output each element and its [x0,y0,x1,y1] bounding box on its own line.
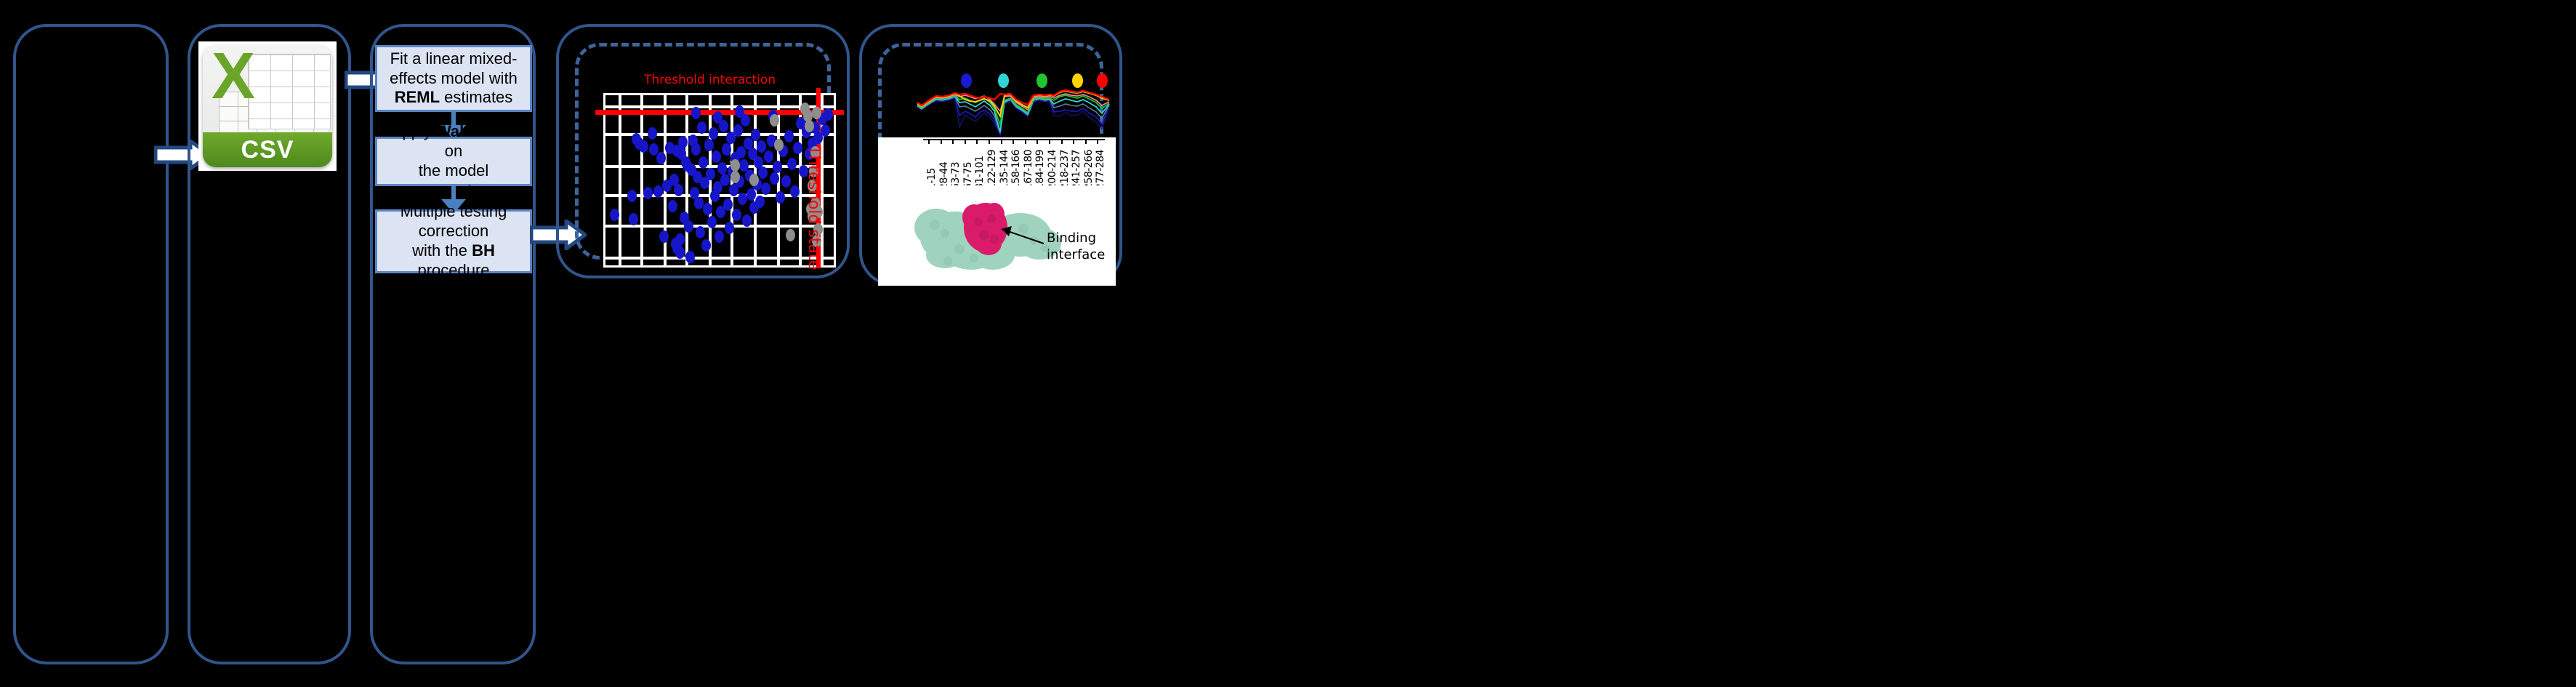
figure-canvas: X CSV Fit a linear mixed-effects model w… [0,0,2576,687]
peptide-tick-mark [1025,139,1026,144]
peptide-tick-label: 184-199 [1034,150,1046,190]
gridline-h [605,194,834,197]
peptide-tick-label: 277-284 [1095,150,1106,190]
peptide-tick-label: 158-166 [1010,150,1022,190]
peptide-tick-mark [1061,139,1063,144]
peptide-tick-mark [1073,139,1074,144]
peptide-profile-chart: 0.0 [895,40,1114,145]
peptide-tick-label: 167-180 [1023,150,1034,190]
step-bh-box[interactable]: Multiple testingcorrectionwith the BH pr… [375,209,532,273]
peptide-tick-mark [989,139,990,144]
peptide-tick-label: 218-237 [1059,150,1071,190]
gridline-h [605,225,834,228]
step-bh-text: Multiple testingcorrectionwith the BH pr… [385,202,523,280]
csv-grid-foreground [248,54,331,129]
step-reml-text: Fit a linear mixed-effects model withREM… [390,49,518,108]
peptide-tick-mark [1013,139,1014,144]
peptide-tick-mark [928,139,930,144]
peptide-lines-svg [914,82,1114,139]
binding-interface-line1: Binding [1047,230,1096,246]
peptide-tick-mark [941,139,942,144]
gridline-h [605,257,834,260]
threshold-interaction-label: Threshold interaction [644,73,776,87]
peptide-tick-label: 258-266 [1083,150,1095,190]
csv-badge: X CSV [203,45,332,167]
peptide-tick-mark [1097,139,1098,144]
peptide-tick-mark [1037,139,1038,144]
peptide-tick-mark [952,139,954,144]
csv-file-icon[interactable]: X CSV [198,41,337,171]
binding-interface-line2: interface [1047,247,1105,262]
step-wald-box[interactable]: Apply Wald tests onthe model parameters [375,137,532,186]
volcano-scatter-chart: Threshold interaction [574,44,836,254]
scatter-plot-area [603,93,836,268]
peptide-tick-mark [1001,139,1002,144]
peptide-tick-label: 81-101 [974,156,986,190]
csv-format-label: CSV [203,132,332,167]
gridline-v [640,95,643,265]
binding-interface-annotation: Binding interface [1047,230,1105,263]
excel-x-icon: X [212,45,255,109]
gridline-v [619,95,621,265]
panel-1-input [13,24,169,664]
step-reml-box[interactable]: Fit a linear mixed-effects model withREM… [375,45,532,112]
peptide-tick-mark [965,139,966,144]
peptide-tick-label: 122-129 [986,150,998,190]
protein-structure-image: Binding interface [878,185,1116,286]
peptide-tick-mark [1049,139,1050,144]
peptide-tick-mark [976,139,978,144]
threshold-state-label: Threshold state [805,145,823,270]
peptide-tick-label: 241-257 [1071,150,1082,190]
gridline-h [605,105,834,108]
peptide-tick-mark [1085,139,1087,144]
gridline-v [685,95,688,265]
peptide-tick-label: 200-214 [1047,150,1058,190]
peptide-tick-label: 135-144 [999,150,1010,190]
